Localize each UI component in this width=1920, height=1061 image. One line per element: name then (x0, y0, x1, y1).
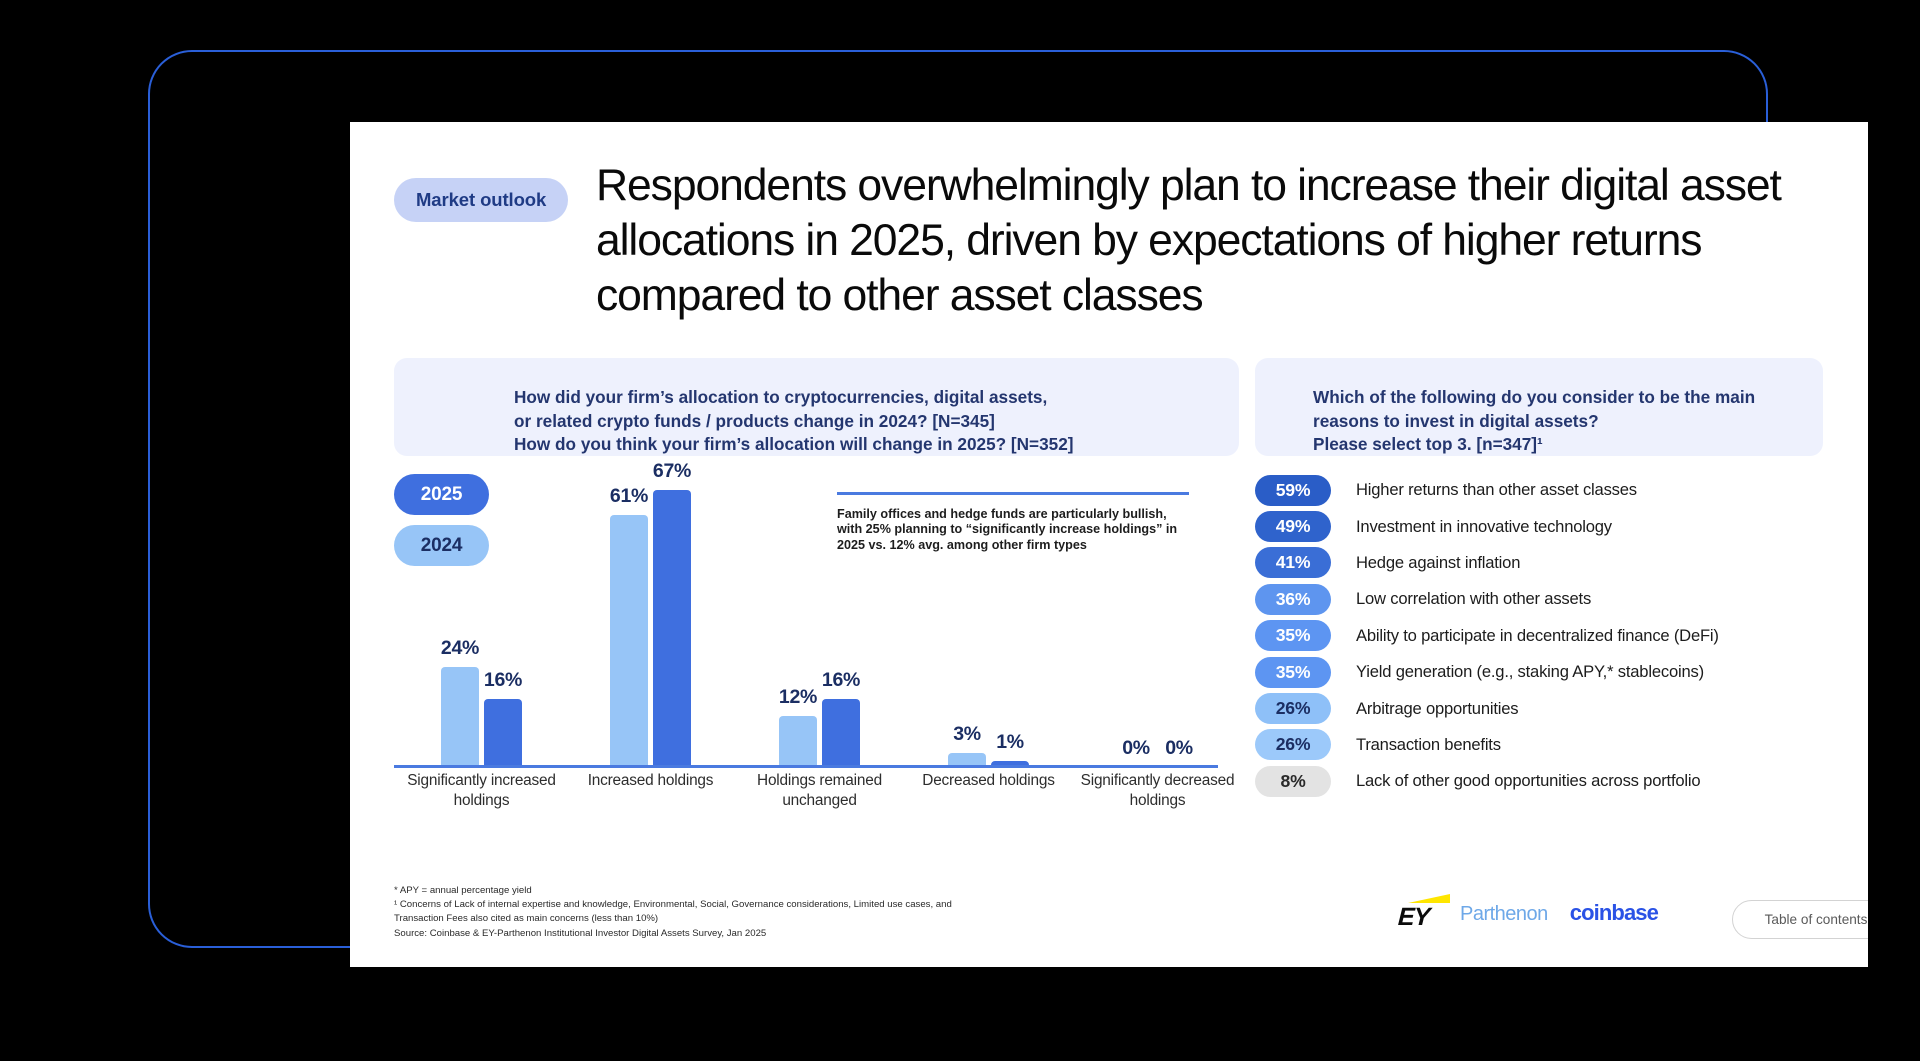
chart-bar-pair: 24%16% (399, 478, 564, 765)
chart-bar-value-label: 12% (779, 686, 817, 709)
callout-rule (837, 492, 1189, 495)
chart-bar-group: 24%16%Significantly increased holdings (399, 478, 564, 765)
reason-percent-badge: 26% (1255, 729, 1331, 760)
chart-bar-value-label: 61% (610, 485, 648, 508)
chart-bar-value-label: 24% (441, 637, 479, 660)
reason-percent-badge: 8% (1255, 766, 1331, 797)
slide-surface: Market outlook Respondents overwhelmingl… (350, 122, 1868, 967)
slide-header: Market outlook Respondents overwhelmingl… (394, 168, 1824, 222)
reason-label: Low correlation with other assets (1356, 589, 1591, 609)
footnote-line-1: * APY = annual percentage yield (394, 884, 1134, 897)
reason-percent-badge: 35% (1255, 620, 1331, 651)
reason-percent-badge: 35% (1255, 657, 1331, 688)
reason-row[interactable]: 41%Hedge against inflation (1255, 545, 1835, 581)
question-right-line-1: Which of the following do you consider t… (1255, 386, 1823, 410)
question-right-line-2: reasons to invest in digital assets? (1255, 410, 1823, 434)
coinbase-wordmark: coinbase (1570, 900, 1658, 926)
reason-percent-badge: 36% (1255, 584, 1331, 615)
footnote-line-3: Transaction Fees also cited as main conc… (394, 912, 1134, 925)
reason-percent-badge: 41% (1255, 547, 1331, 578)
reason-label: Investment in innovative technology (1356, 517, 1612, 537)
chart-x-axis (394, 765, 1218, 768)
chart-bar-2025[interactable]: 16% (822, 699, 860, 765)
footnotes: * APY = annual percentage yield ¹ Concer… (394, 884, 1134, 941)
chart-bar-2024[interactable]: 61% (610, 515, 648, 765)
chart-bar-value-label: 16% (822, 669, 860, 692)
callout-text: Family offices and hedge funds are parti… (837, 507, 1187, 554)
chart-bar-2024[interactable]: 24% (441, 667, 479, 765)
reason-label: Arbitrage opportunities (1356, 699, 1518, 719)
chart-bar-2024[interactable]: 12% (779, 716, 817, 765)
reason-percent-badge: 26% (1255, 693, 1331, 724)
reason-row[interactable]: 59%Higher returns than other asset class… (1255, 472, 1835, 508)
reason-label: Higher returns than other asset classes (1356, 480, 1637, 500)
device-frame: Market outlook Respondents overwhelmingl… (148, 50, 1768, 948)
chart-category-label: Decreased holdings (901, 771, 1076, 791)
chart-bar-value-label: 0% (1165, 737, 1193, 760)
chart-bar-value-label: 0% (1122, 737, 1150, 760)
reason-label: Hedge against inflation (1356, 553, 1520, 573)
question-banner-left: How did your firm’s allocation to crypto… (394, 358, 1239, 456)
chart-bar-value-label: 3% (953, 723, 981, 746)
chart-bar-pair: 61%67% (568, 478, 733, 765)
chart-bar-2025[interactable]: 1% (991, 761, 1029, 765)
table-of-contents-button[interactable]: Table of contents (1732, 900, 1868, 939)
reason-percent-badge: 59% (1255, 475, 1331, 506)
chart-bar-2025[interactable]: 67% (653, 490, 691, 765)
reason-label: Ability to participate in decentralized … (1356, 626, 1719, 646)
ey-logo-icon: EY (1398, 894, 1456, 928)
reason-row[interactable]: 36%Low correlation with other assets (1255, 581, 1835, 617)
reason-row[interactable]: 35%Ability to participate in decentraliz… (1255, 618, 1835, 654)
reason-label: Lack of other good opportunities across … (1356, 771, 1700, 791)
chart-bar-value-label: 16% (484, 669, 522, 692)
parthenon-wordmark: Parthenon (1460, 903, 1548, 926)
footnote-line-4: Source: Coinbase & EY-Parthenon Institut… (394, 927, 1134, 940)
reason-row[interactable]: 49%Investment in innovative technology (1255, 508, 1835, 544)
reasons-list: 59%Higher returns than other asset class… (1255, 472, 1835, 800)
reason-row[interactable]: 8%Lack of other good opportunities acros… (1255, 763, 1835, 799)
chart-bar-value-label: 67% (653, 460, 691, 483)
chart-bar-2025[interactable]: 16% (484, 699, 522, 765)
reason-percent-badge: 49% (1255, 511, 1331, 542)
question-banner-right: Which of the following do you consider t… (1255, 358, 1823, 456)
chart-category-label: Holdings remained unchanged (732, 771, 907, 811)
footer-branding: EY Parthenon coinbase (1398, 894, 1658, 928)
chart-bar-value-label: 1% (996, 731, 1024, 754)
reason-label: Yield generation (e.g., staking APY,* st… (1356, 662, 1704, 682)
category-tag-pill[interactable]: Market outlook (394, 178, 568, 222)
footnote-line-2: ¹ Concerns of Lack of internal expertise… (394, 898, 1134, 911)
bar-chart-panel: 2025 2024 24%16%Significantly increased … (350, 468, 1250, 828)
question-right-line-3: Please select top 3. [n=347]¹ (1255, 433, 1823, 457)
chart-category-label: Significantly decreased holdings (1070, 771, 1245, 811)
chart-bar-group: 61%67%Increased holdings (568, 478, 733, 765)
question-left-line-1: How did your firm’s allocation to crypto… (394, 386, 1239, 410)
reason-row[interactable]: 26%Arbitrage opportunities (1255, 690, 1835, 726)
chart-bar-2024[interactable]: 3% (948, 753, 986, 765)
chart-category-label: Significantly increased holdings (394, 771, 569, 811)
reason-row[interactable]: 35%Yield generation (e.g., staking APY,*… (1255, 654, 1835, 690)
reason-row[interactable]: 26%Transaction benefits (1255, 727, 1835, 763)
ey-stripe-icon (1408, 894, 1450, 903)
question-left-line-3: How do you think your firm’s allocation … (394, 433, 1239, 457)
chart-category-label: Increased holdings (563, 771, 738, 791)
ey-wordmark: EY (1397, 903, 1430, 932)
reason-label: Transaction benefits (1356, 735, 1501, 755)
chart-callout: Family offices and hedge funds are parti… (837, 492, 1195, 553)
page-title: Respondents overwhelmingly plan to incre… (596, 158, 1836, 323)
question-left-line-2: or related crypto funds / products chang… (394, 410, 1239, 434)
